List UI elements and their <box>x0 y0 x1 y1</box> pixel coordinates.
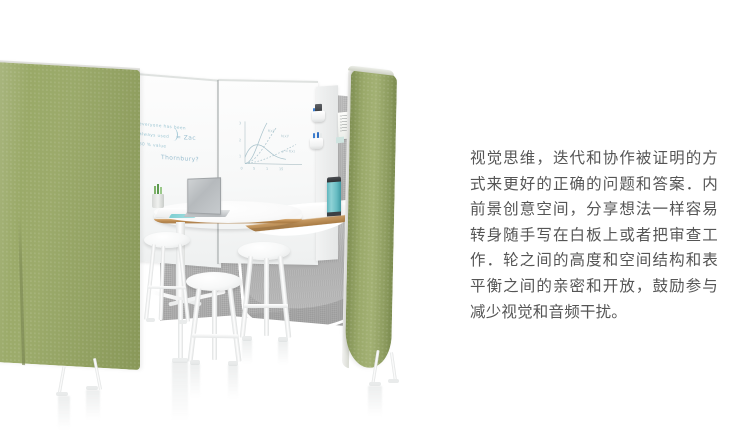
pen-cup <box>152 194 164 208</box>
description-text-block: 视觉思维，迭代和协作被证明的方式来更好的正确的问题和答案．内前景创意空间，分享想… <box>470 146 718 325</box>
laptop-screen <box>187 177 221 215</box>
floor-reflection-g <box>242 340 252 364</box>
paper-note-tab <box>336 137 344 144</box>
whiteboard-graph-sketch: 3 2 1 0 5 1 15 f(x)² h(x)² y = f(x) <box>236 117 308 179</box>
green-screen-right-foot-b <box>388 379 399 383</box>
floor-reflection-h <box>278 341 288 365</box>
marker-cup-upper <box>312 111 325 123</box>
svg-text:1: 1 <box>266 167 268 171</box>
floor-reflection-b <box>86 390 100 420</box>
stool-center-leg-c <box>212 290 217 360</box>
table-foot-center <box>178 300 183 362</box>
svg-text:h(x)²: h(x)² <box>281 134 290 138</box>
floor-reflection-d <box>190 364 200 398</box>
stool-left-foot-a <box>146 318 155 322</box>
whiteboard-note-annotation: = Zac <box>176 134 196 142</box>
svg-text:y = f(x): y = f(x) <box>282 149 296 153</box>
graph-svg: 3 2 1 0 5 1 15 f(x)² h(x)² y = f(x) <box>236 117 308 179</box>
floor-reflection-e <box>228 365 238 399</box>
floor-reflection-a <box>58 396 70 430</box>
green-acoustic-screen-right <box>345 68 397 371</box>
green-screen-right-leg-b <box>390 352 397 382</box>
stool-right-rung <box>244 304 288 308</box>
stool-left-foot-b <box>178 320 187 324</box>
svg-text:5: 5 <box>253 167 255 171</box>
stool-right-leg-c <box>264 258 269 336</box>
whiteboard-seam <box>217 80 219 264</box>
svg-text:15: 15 <box>279 167 283 171</box>
teal-tumbler-lid <box>327 177 341 183</box>
office-booth-photo: everyone has been always used 60 % value… <box>0 0 450 444</box>
teal-tumbler <box>327 180 341 216</box>
stool-center-rung <box>192 334 238 339</box>
floor-reflection-c <box>172 362 188 422</box>
stool-center-seat <box>186 272 242 291</box>
svg-text:3: 3 <box>239 121 241 125</box>
description-paragraph: 视觉思维，迭代和协作被证明的方式来更好的正确的问题和答案．内前景创意空间，分享想… <box>470 146 718 325</box>
svg-text:0: 0 <box>241 166 243 170</box>
svg-text:f(x)²: f(x)² <box>268 129 276 133</box>
marker-cup-lower <box>310 138 323 150</box>
svg-text:2: 2 <box>239 138 241 142</box>
svg-text:1: 1 <box>239 154 241 158</box>
floor-reflection-f <box>368 386 382 416</box>
page-root: everyone has been always used 60 % value… <box>0 0 750 444</box>
stool-left-rung <box>148 286 186 290</box>
